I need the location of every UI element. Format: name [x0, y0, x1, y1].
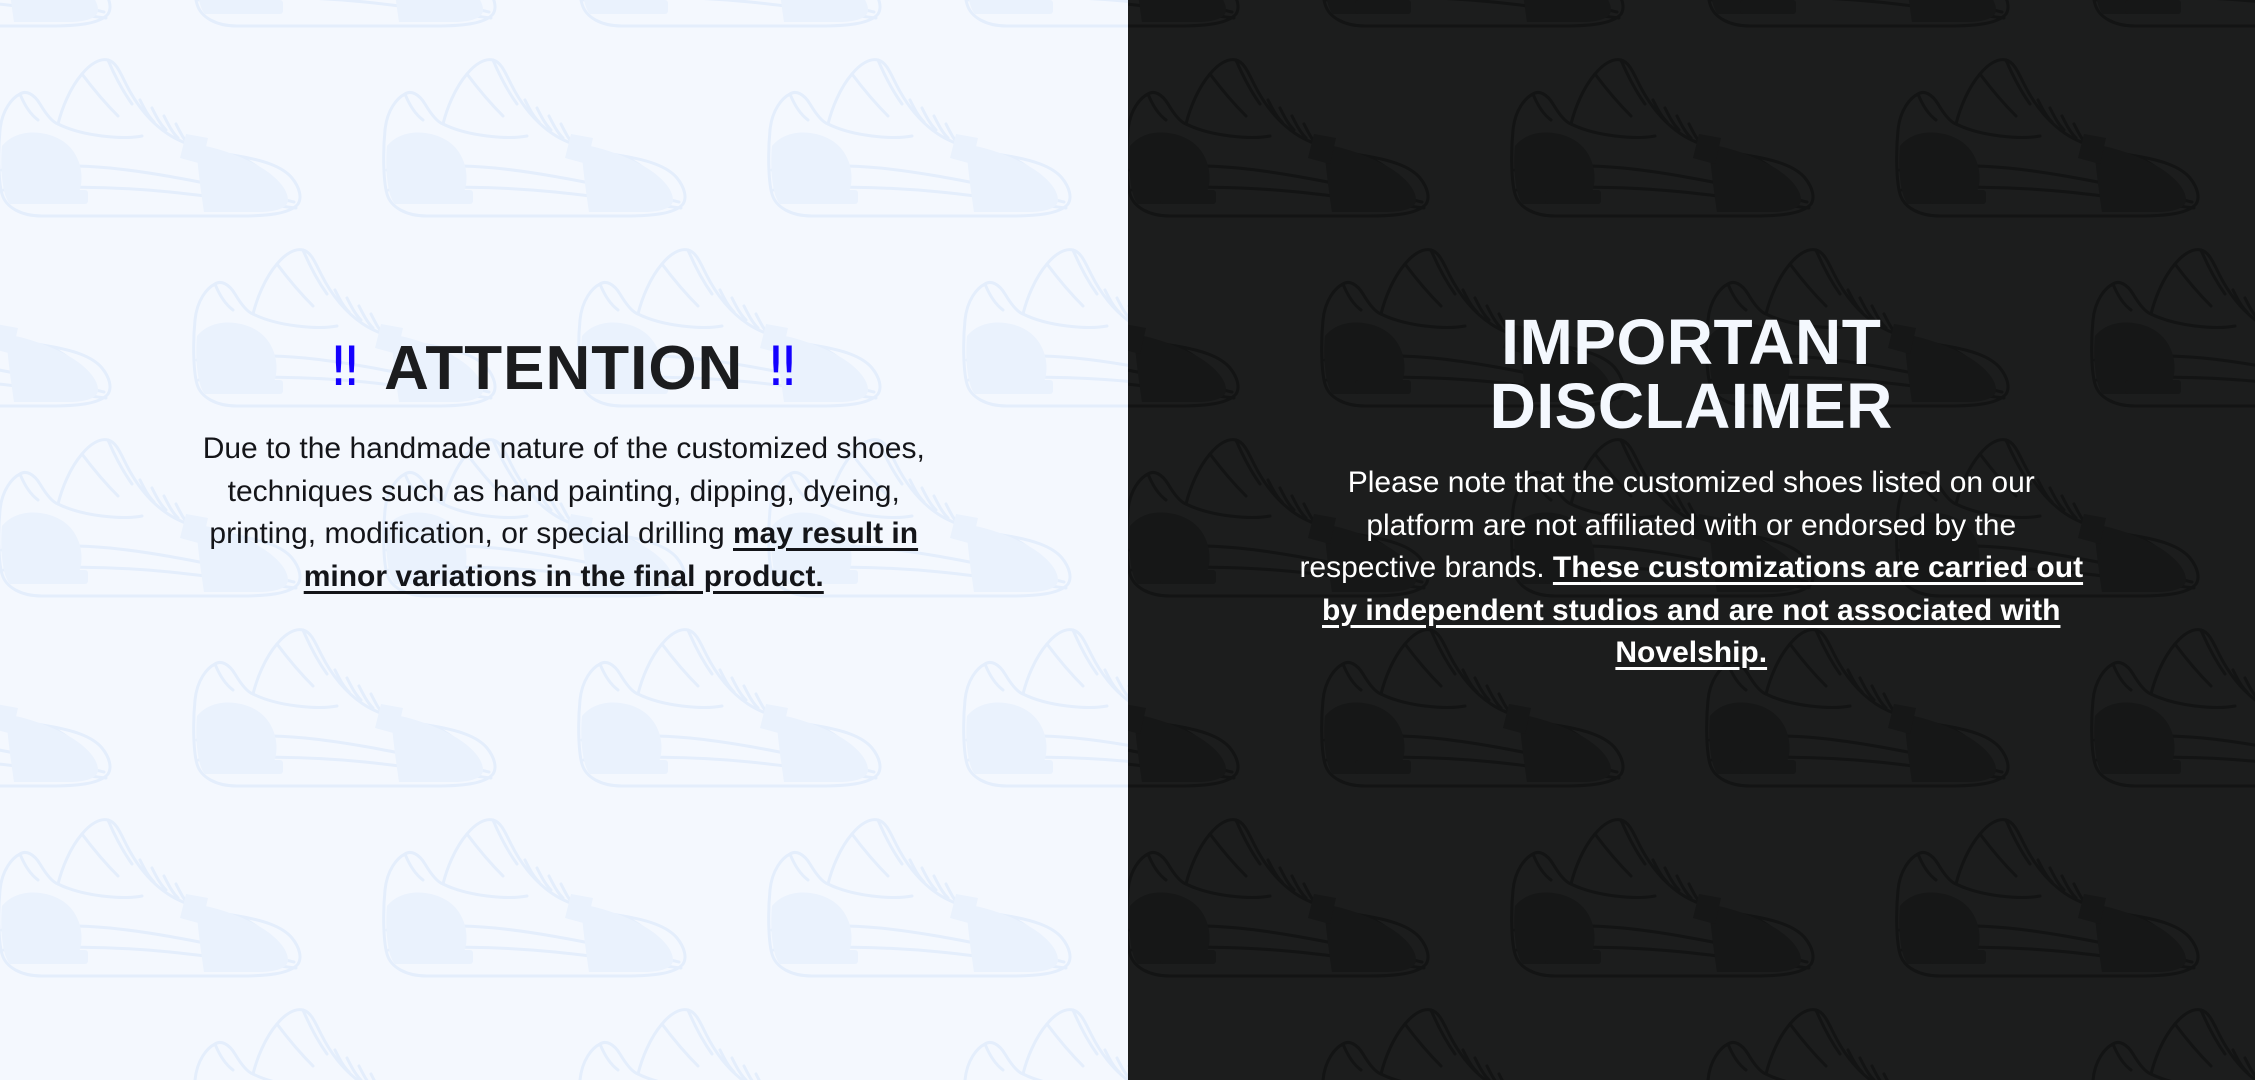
disclaimer-content: IMPORTANT DISCLAIMER Please note that th…	[1128, 0, 2255, 675]
sneaker-icon	[185, 608, 570, 808]
sneaker-icon	[2083, 988, 2255, 1080]
disclaimer-heading-line1: IMPORTANT	[1490, 310, 1893, 374]
disclaimer-heading-line2: DISCLAIMER	[1490, 374, 1893, 438]
disclaimer-heading: IMPORTANT DISCLAIMER	[1490, 310, 1893, 438]
sneaker-pattern-row	[0, 798, 1128, 998]
sneaker-icon	[570, 608, 955, 808]
disclaimer-banner: ‼ ATTENTION ‼ Due to the handmade nature…	[0, 0, 2255, 1080]
sneaker-icon	[760, 798, 1128, 998]
sneaker-icon	[1128, 988, 1313, 1080]
sneaker-pattern-row	[0, 988, 1128, 1080]
sneaker-icon	[0, 608, 185, 808]
attention-content: ‼ ATTENTION ‼ Due to the handmade nature…	[0, 0, 1128, 598]
sneaker-pattern-row	[1128, 988, 2255, 1080]
sneaker-icon	[1698, 988, 2083, 1080]
sneaker-icon	[1313, 988, 1698, 1080]
sneaker-icon	[0, 798, 375, 998]
attention-body: Due to the handmade nature of the custom…	[194, 428, 934, 598]
sneaker-pattern-row	[0, 608, 1128, 808]
sneaker-icon	[1503, 798, 1888, 998]
sneaker-pattern-row	[1128, 798, 2255, 998]
sneaker-icon	[570, 988, 955, 1080]
sneaker-icon	[0, 988, 185, 1080]
sneaker-icon	[185, 988, 570, 1080]
attention-heading: ‼ ATTENTION ‼	[332, 338, 796, 400]
attention-heading-text: ATTENTION	[384, 338, 743, 400]
double-exclamation-icon-left: ‼	[332, 340, 358, 394]
sneaker-icon	[1128, 798, 1503, 998]
disclaimer-body: Please note that the customized shoes li…	[1296, 462, 2086, 675]
disclaimer-panel: IMPORTANT DISCLAIMER Please note that th…	[1128, 0, 2255, 1080]
sneaker-icon	[955, 608, 1128, 808]
double-exclamation-icon-right: ‼	[769, 340, 795, 394]
attention-panel: ‼ ATTENTION ‼ Due to the handmade nature…	[0, 0, 1128, 1080]
sneaker-icon	[375, 798, 760, 998]
sneaker-icon	[1888, 798, 2255, 998]
sneaker-icon	[955, 988, 1128, 1080]
